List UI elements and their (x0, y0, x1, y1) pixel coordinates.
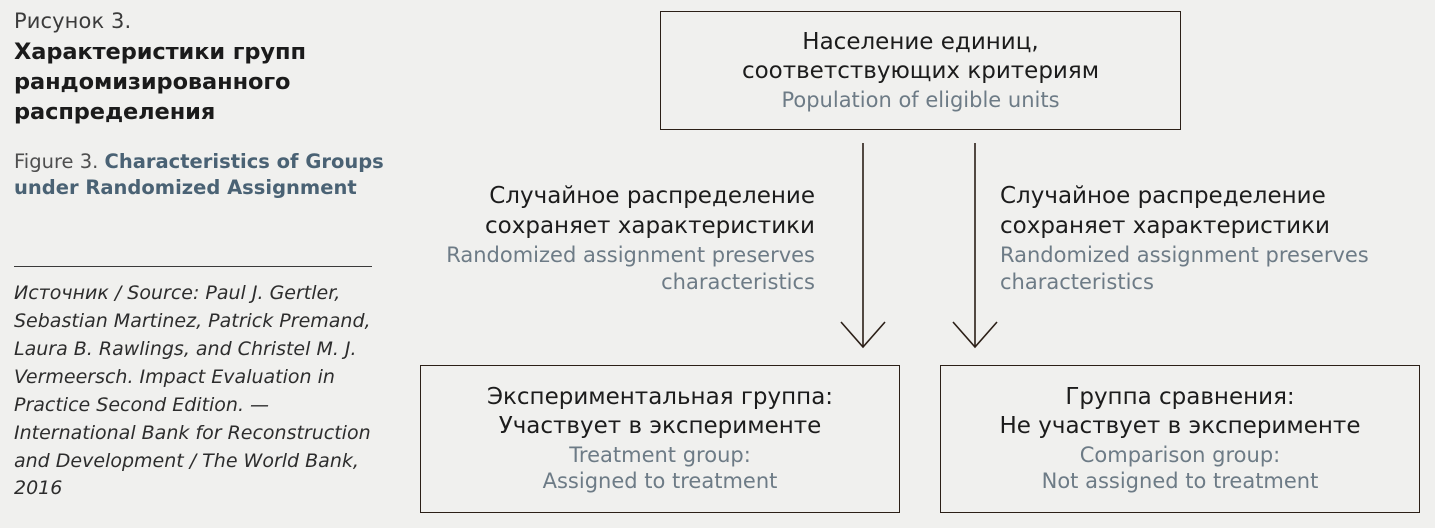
edge-label-left-ru-line1: Случайное распределение (400, 182, 815, 212)
edge-label-right-en-line1: Randomized assignment preserves (1000, 242, 1432, 269)
node-comparison-en-line2: Not assigned to treatment (1042, 468, 1319, 495)
node-population-en: Population of eligible units (781, 87, 1059, 114)
node-treatment-group: Экспериментальная группа: Участвует в эк… (420, 365, 900, 513)
node-treatment-ru-line1: Экспериментальная группа: (487, 383, 833, 412)
arrow-left-head (841, 322, 885, 347)
node-comparison-ru-line1: Группа сравнения: (1065, 383, 1294, 412)
edge-label-right-en-line2: characteristics (1000, 269, 1432, 296)
node-population-ru-line1: Население единиц, (802, 28, 1038, 57)
node-comparison-en-line1: Comparison group: (1080, 442, 1280, 469)
edge-label-left: Случайное распределение сохраняет характ… (400, 182, 815, 296)
edge-label-right-ru-line2: сохраняет характеристики (1000, 212, 1432, 242)
node-comparison-ru-line2: Не участвует в эксперименте (1000, 412, 1361, 441)
edge-label-right-ru-line1: Случайное распределение (1000, 182, 1432, 212)
node-comparison-group: Группа сравнения: Не участвует в экспери… (940, 365, 1420, 513)
edge-label-left-ru-line2: сохраняет характеристики (400, 212, 815, 242)
node-treatment-ru-line2: Участвует в эксперименте (499, 412, 822, 441)
arrow-right-head (953, 322, 997, 347)
node-population-ru-line2: соответствующих критериям (742, 57, 1099, 86)
node-population-of-eligible-units: Население единиц, соответствующих критер… (660, 11, 1181, 130)
edge-label-left-en-line2: characteristics (400, 269, 815, 296)
node-treatment-en-line2: Assigned to treatment (543, 468, 778, 495)
edge-label-left-en-line1: Randomized assignment preserves (400, 242, 815, 269)
node-treatment-en-line1: Treatment group: (569, 442, 751, 469)
edge-label-right: Случайное распределение сохраняет характ… (1000, 182, 1432, 296)
flowchart-diagram: Население единиц, соответствующих критер… (0, 0, 1435, 528)
